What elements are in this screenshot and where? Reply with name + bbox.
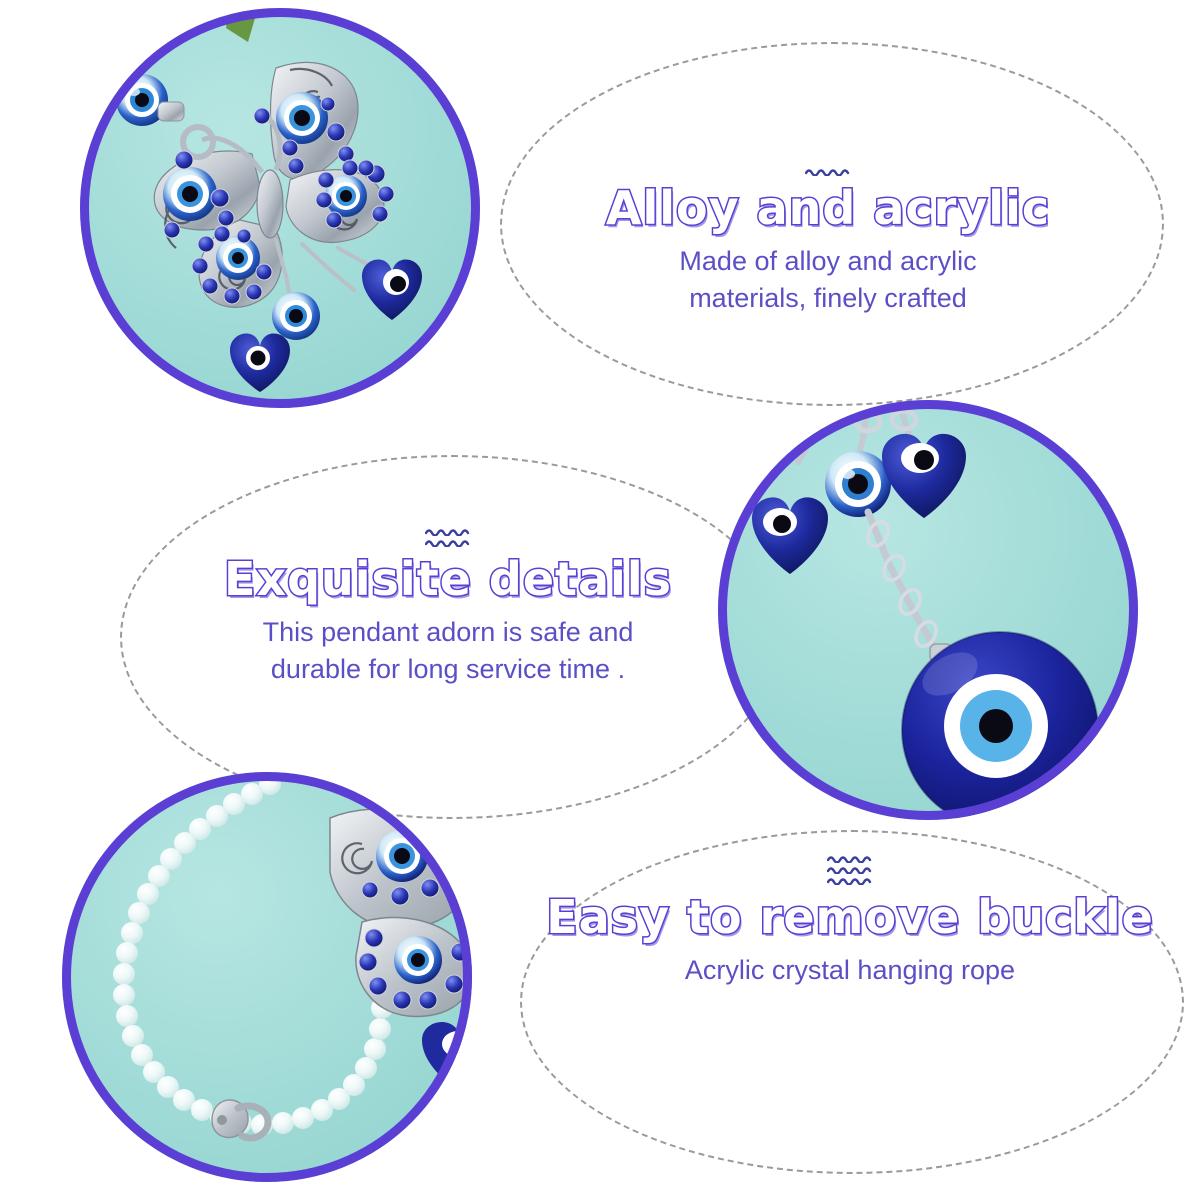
feature-subtitle-line1: Acrylic crystal hanging rope [520,952,1180,989]
wave-line-icon [827,877,873,885]
product-photo-crystal-rope [62,772,472,1182]
feature-subtitle-line1: Made of alloy and acrylic [548,243,1108,280]
evil-eye-charms-illustration [718,400,1138,820]
squiggle-divider-2 [168,528,728,547]
feature-subtitle-line2: materials, finely crafted [548,280,1108,317]
crystal-hanging-rope-illustration [62,772,472,1182]
feature-heading: Easy to remove buckle [520,891,1180,944]
feature-block-exquisite-details: Exquisite details This pendant adorn is … [168,528,728,688]
butterfly-pendant-illustration [80,8,480,408]
product-photo-evil-eye-disc [718,400,1138,820]
feature-subtitle-line1: This pendant adorn is safe and [168,614,728,651]
infographic-canvas: Alloy and acrylic Made of alloy and acry… [0,0,1200,1200]
wave-line-icon [827,855,873,863]
squiggle-divider-1 [548,168,1108,176]
feature-heading: Exquisite details [168,553,728,606]
feature-block-easy-to-remove-buckle: Easy to remove buckle Acrylic crystal ha… [520,855,1180,989]
wave-line-icon [805,168,851,176]
product-photo-butterfly-pendant [80,8,480,408]
feature-block-alloy-and-acrylic: Alloy and acrylic Made of alloy and acry… [548,168,1108,317]
wave-line-icon [425,528,471,536]
feature-heading: Alloy and acrylic [548,182,1108,235]
wave-line-icon [425,539,471,547]
feature-subtitle-line2: durable for long service time . [168,651,728,688]
squiggle-divider-3 [520,855,1180,885]
wave-line-icon [827,866,873,874]
